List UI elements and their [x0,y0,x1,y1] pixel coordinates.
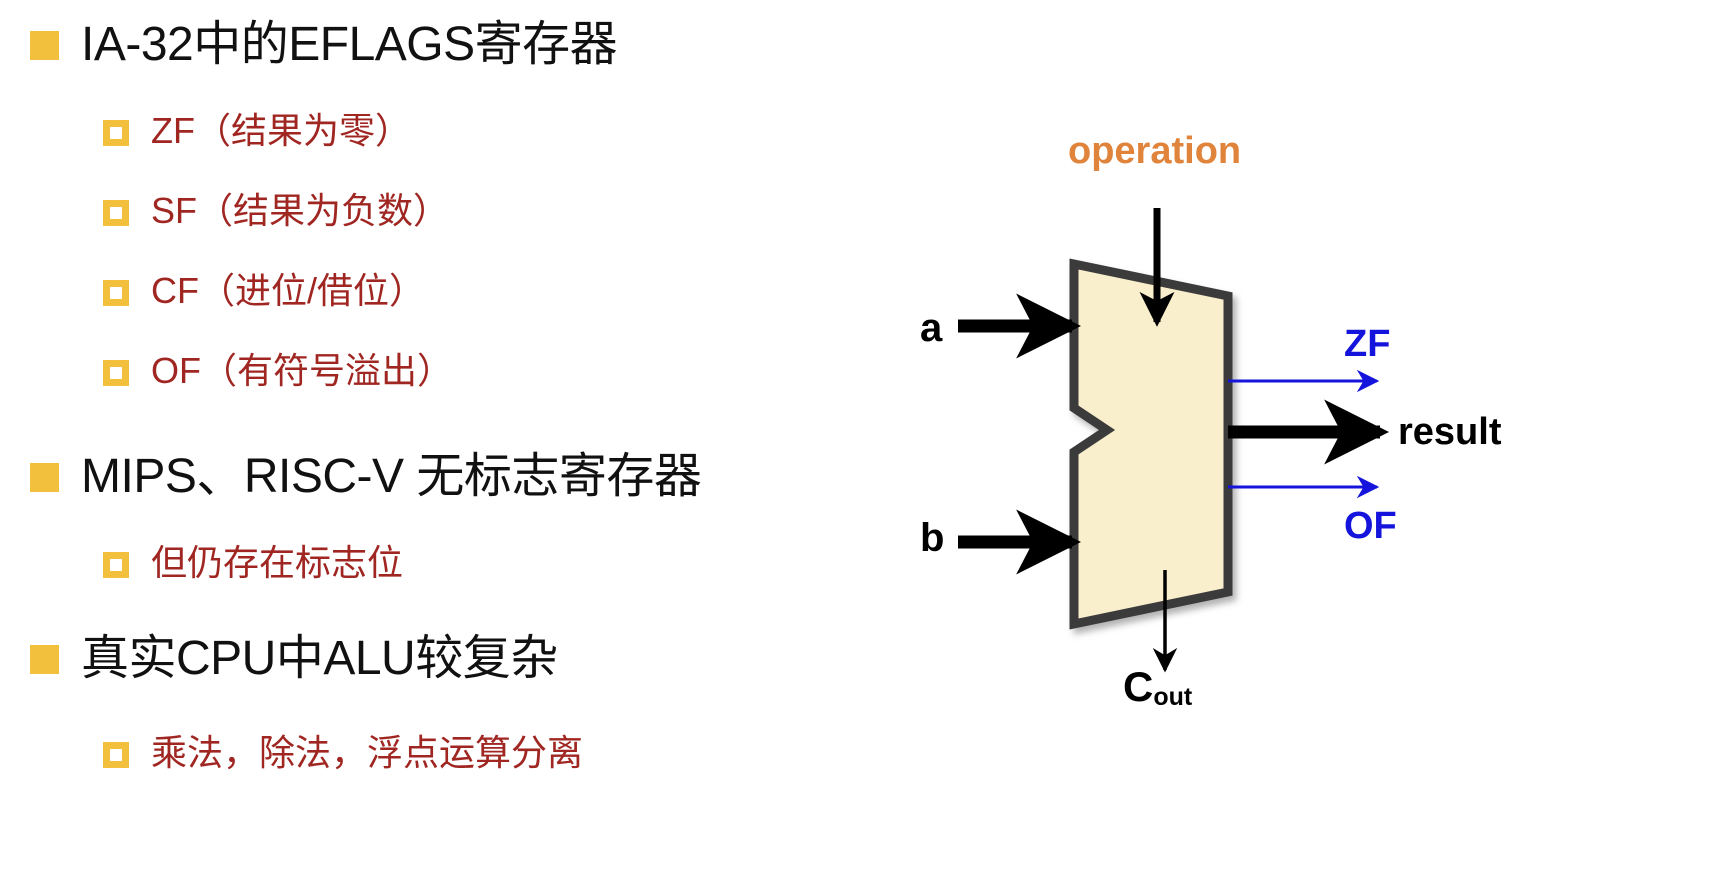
filled-square-bullet-icon [30,645,59,674]
bullet-text: 但仍存在标志位 [151,540,403,586]
slide-content-body: IA-32中的EFLAGS寄存器 ZF（结果为零） SF（结果为负数） CF（进… [0,0,880,888]
input-a-label: a [920,306,942,351]
bullet-text: IA-32中的EFLAGS寄存器 [81,14,617,76]
of-flag-label: OF [1344,505,1397,548]
bullet-item-level2: CF（进位/借位） [103,268,425,314]
operation-input-label: operation [1068,130,1241,173]
hollow-square-bullet-icon [103,742,129,768]
hollow-square-bullet-icon [103,280,129,306]
result-output-label: result [1398,411,1501,454]
bullet-text: 乘法，除法，浮点运算分离 [151,730,583,776]
hollow-square-bullet-icon [103,552,129,578]
bullet-item-level1: 真实CPU中ALU较复杂 [30,628,558,690]
hollow-square-bullet-icon [103,200,129,226]
zf-flag-label: ZF [1344,323,1390,366]
bullet-item-level2: 但仍存在标志位 [103,540,403,586]
hollow-square-bullet-icon [103,360,129,386]
bullet-text: CF（进位/借位） [151,268,425,314]
alu-body-shape [1074,264,1228,624]
bullet-item-level2: 乘法，除法，浮点运算分离 [103,730,583,776]
filled-square-bullet-icon [30,31,59,60]
bullet-item-level2: ZF（结果为零） [103,108,411,154]
cout-subscript-text: out [1153,683,1192,711]
bullet-text: 真实CPU中ALU较复杂 [81,628,558,690]
bullet-text: ZF（结果为零） [151,108,411,154]
input-b-label: b [920,516,944,561]
alu-diagram-svg [880,0,1710,888]
bullet-item-level2: OF（有符号溢出） [103,348,453,394]
cout-base-text: C [1123,663,1153,710]
bullet-item-level1: IA-32中的EFLAGS寄存器 [30,14,617,76]
bullet-item-level1: MIPS、RISC-V 无标志寄存器 [30,446,701,508]
bullet-text: OF（有符号溢出） [151,348,453,394]
filled-square-bullet-icon [30,463,59,492]
bullet-text: MIPS、RISC-V 无标志寄存器 [81,446,701,508]
bullet-item-level2: SF（结果为负数） [103,188,449,234]
alu-block-diagram: operation a b ZF OF result Cout [880,0,1710,888]
hollow-square-bullet-icon [103,120,129,146]
cout-output-label: Cout [1123,663,1192,711]
bullet-text: SF（结果为负数） [151,188,449,234]
